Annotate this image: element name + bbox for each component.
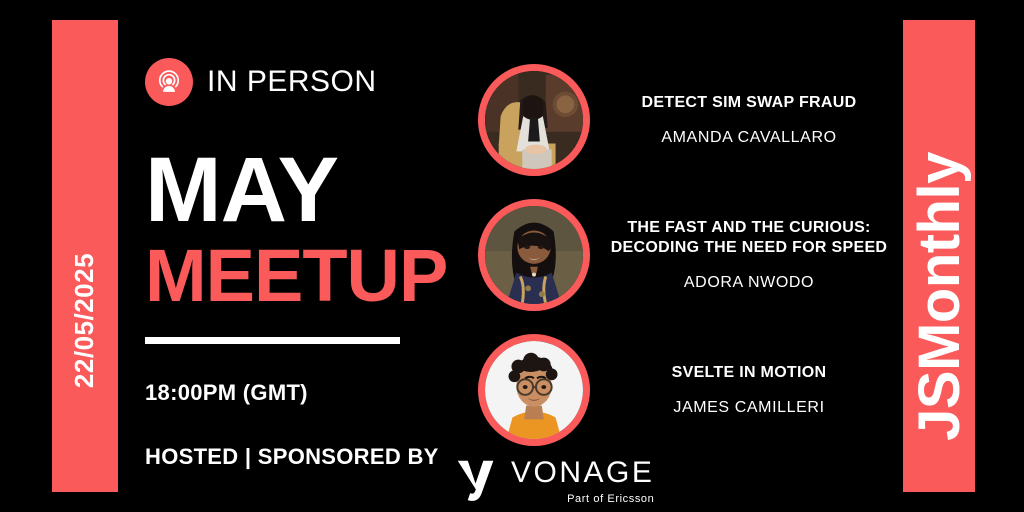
speaker-name: AMANDA CAVALLARO [604,129,894,147]
speaker-details: DETECT SIM SWAP FRAUD AMANDA CAVALLARO [590,93,898,147]
vonage-tagline: Part of Ericsson [511,493,654,505]
vonage-wordmark-block: VONAGE Part of Ericsson [511,458,654,505]
headline-meetup: MEETUP [145,241,435,311]
speaker-item: THE FAST AND THE CURIOUS: DECODING THE N… [478,187,898,322]
speaker-talk-title: DETECT SIM SWAP FRAUD [604,93,894,113]
vonage-v-logomark [455,455,497,508]
event-time: 18:00PM (GMT) [145,380,435,406]
speaker-details: THE FAST AND THE CURIOUS: DECODING THE N… [590,218,898,292]
speaker-talk-title: THE FAST AND THE CURIOUS: DECODING THE N… [604,218,894,258]
speaker-name: JAMES CAMILLERI [604,399,894,417]
event-poster: 22/05/2025 JSMonthly IN PERSON MAY MEETU… [0,0,1024,512]
date-strip: 22/05/2025 [52,20,118,492]
headline-month: MAY [145,148,435,233]
in-person-badge: IN PERSON [145,58,435,106]
sponsor-logo: VONAGE Part of Ericsson [455,455,654,508]
headline-divider [145,337,400,344]
speaker-item: DETECT SIM SWAP FRAUD AMANDA CAVALLARO [478,52,898,187]
speaker-item: SVELTE IN MOTION JAMES CAMILLERI [478,322,898,457]
speaker-photo-james-camilleri [478,334,590,446]
speaker-photo-adora-nwodo [478,199,590,311]
in-person-broadcast-icon [145,58,193,106]
vonage-wordmark: VONAGE [511,458,654,488]
brand-strip-text: JSMonthly [906,152,973,441]
in-person-badge-label: IN PERSON [207,65,377,99]
speaker-talk-title: SVELTE IN MOTION [604,363,894,383]
brand-strip: JSMonthly [903,20,975,492]
speaker-list: DETECT SIM SWAP FRAUD AMANDA CAVALLARO [478,52,898,457]
date-strip-text: 22/05/2025 [70,252,101,387]
hosted-sponsored-label: HOSTED | SPONSORED BY [145,444,435,470]
speaker-details: SVELTE IN MOTION JAMES CAMILLERI [590,363,898,417]
left-content-column: IN PERSON MAY MEETUP 18:00PM (GMT) HOSTE… [145,20,435,492]
speaker-name: ADORA NWODO [604,274,894,292]
speaker-photo-amanda-cavallaro [478,64,590,176]
